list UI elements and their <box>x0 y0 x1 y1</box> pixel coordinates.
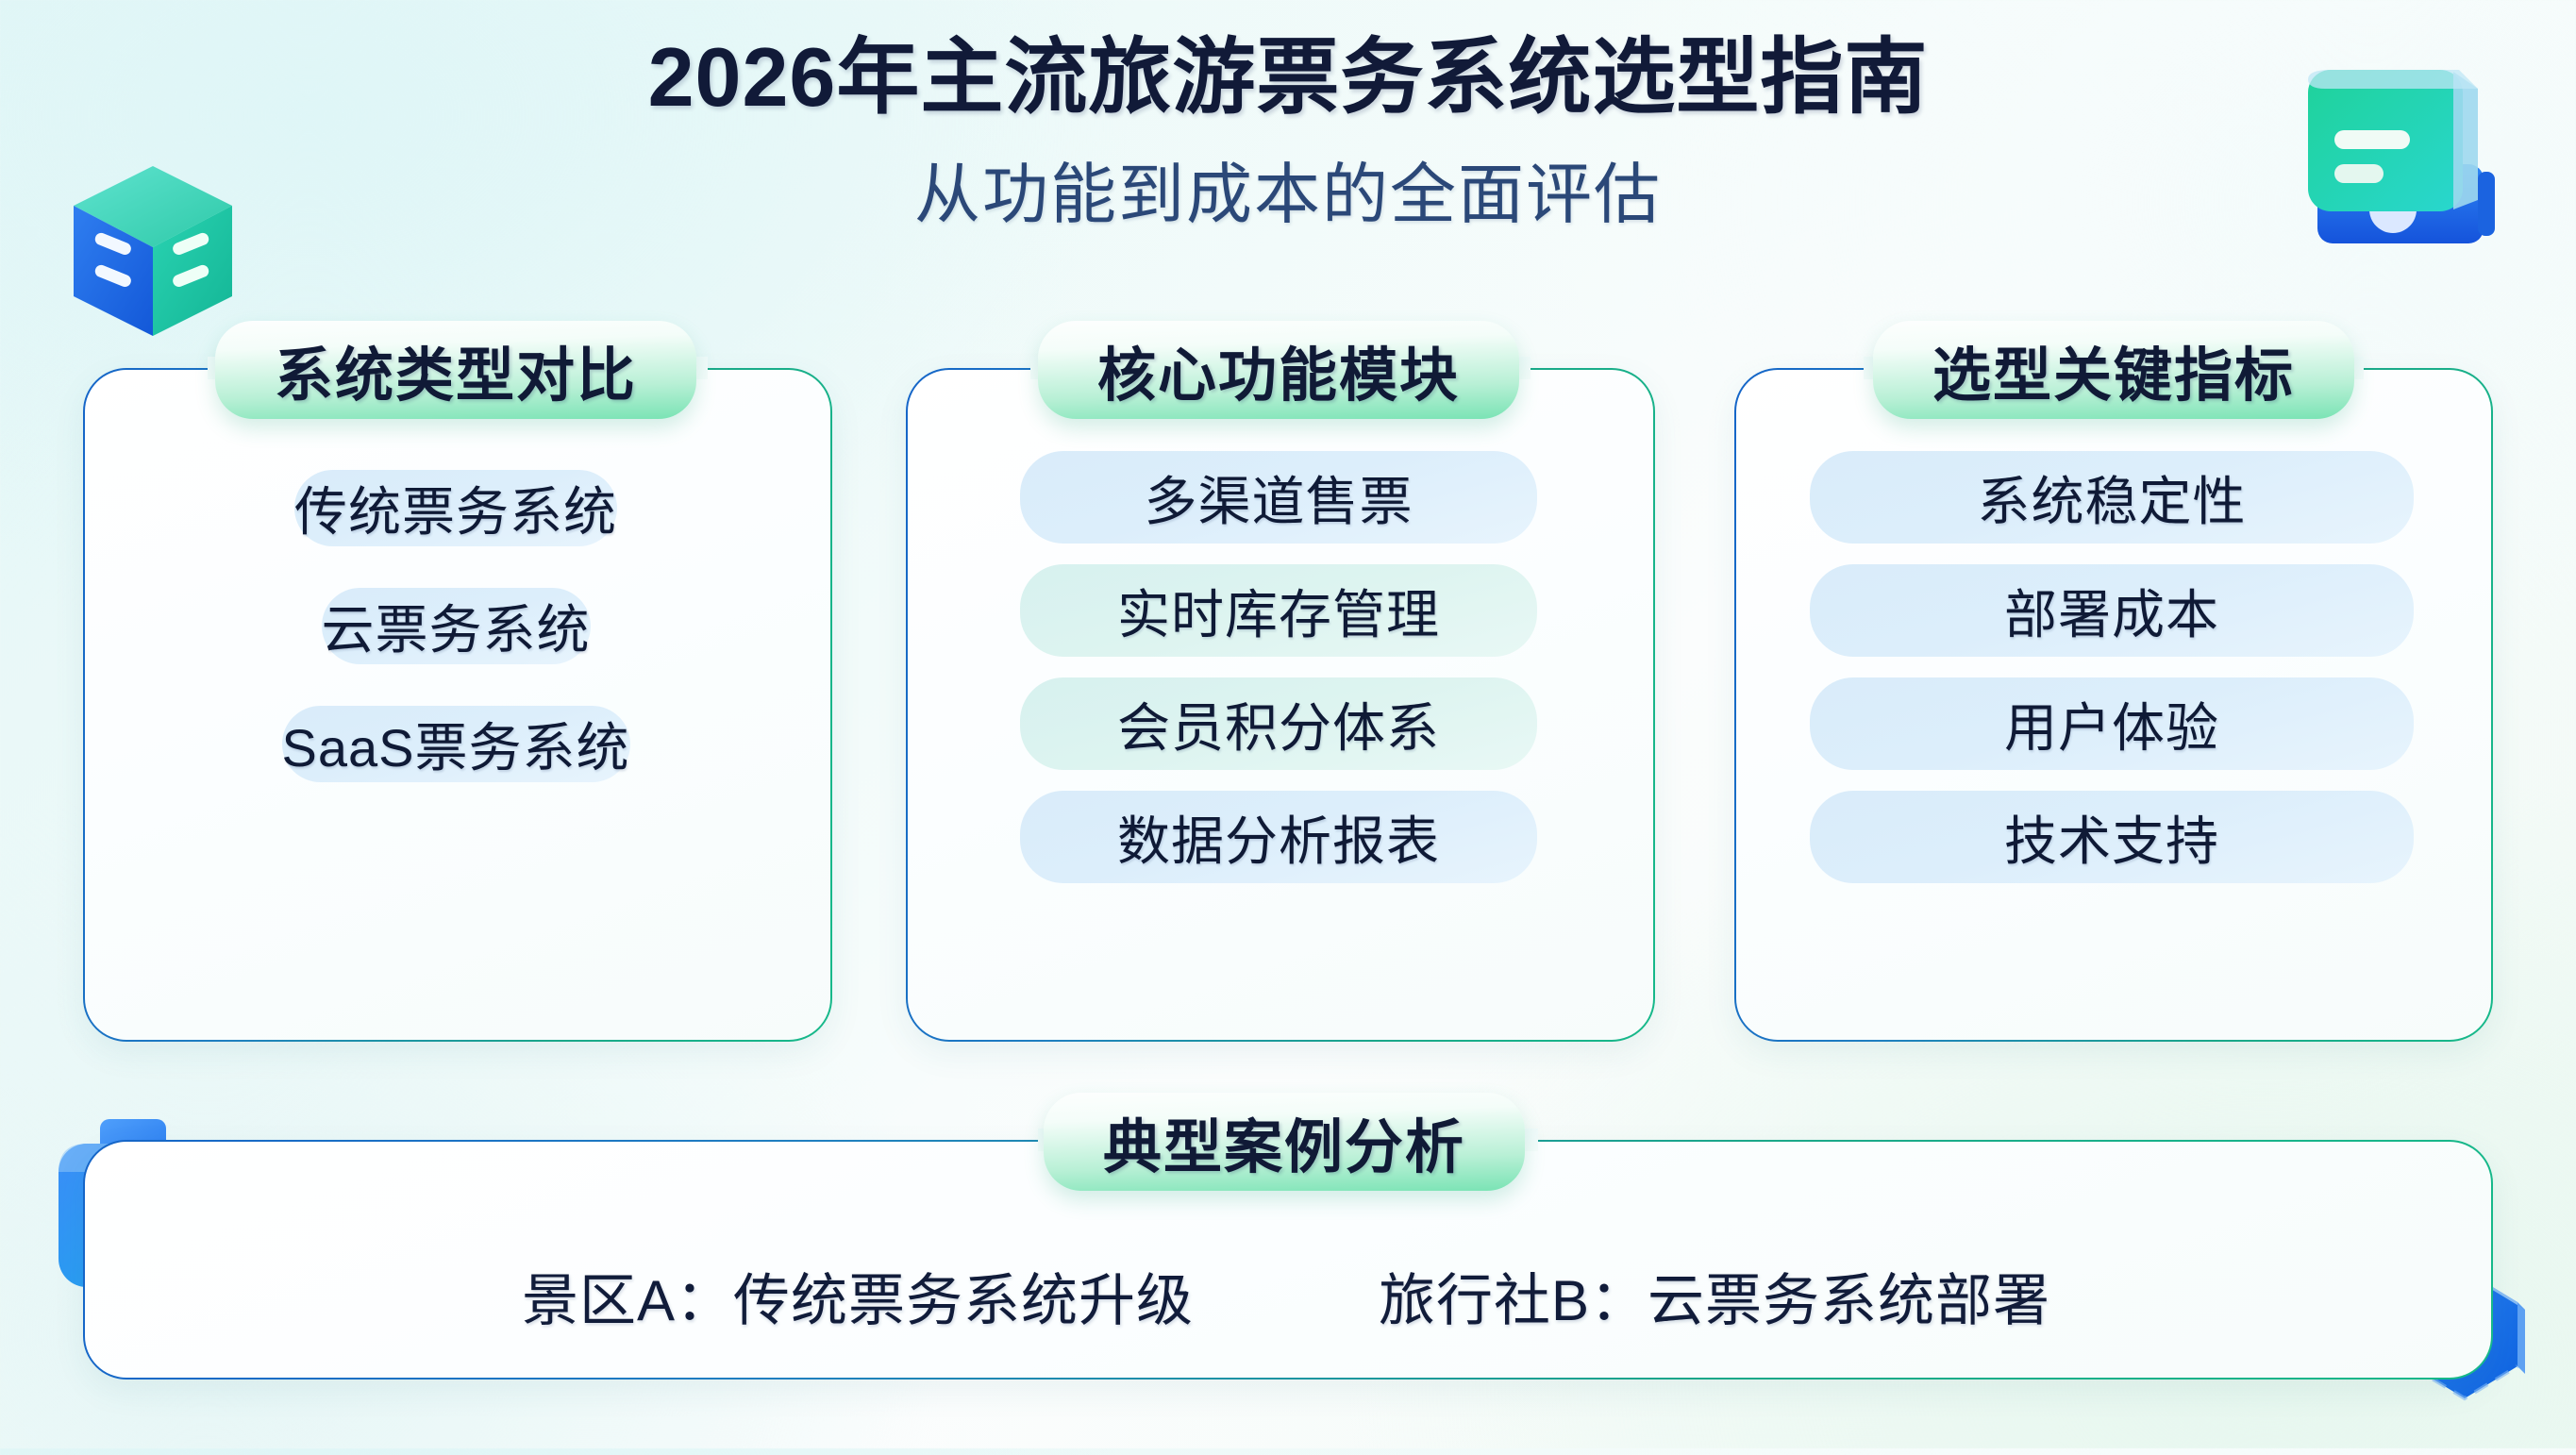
card-heading-core-modules: 核心功能模块 <box>1038 321 1519 419</box>
cube-3d-icon <box>59 159 247 347</box>
card-heading-case-studies: 典型案例分析 <box>1044 1093 1525 1191</box>
list-item[interactable]: 多渠道售票 <box>1020 451 1537 544</box>
list-item[interactable]: 系统稳定性 <box>1810 451 2414 544</box>
document-card-3d-icon <box>2293 21 2529 257</box>
case-study-list: 景区A：传统票务系统升级 旅行社B：云票务系统部署 <box>83 1244 2489 1347</box>
core-module-item-list: 多渠道售票 实时库存管理 会员积分体系 数据分析报表 <box>906 451 1651 883</box>
list-item[interactable]: 部署成本 <box>1810 564 2414 657</box>
key-metric-item-list: 系统稳定性 部署成本 用户体验 技术支持 <box>1734 451 2489 883</box>
card-heading-key-metrics: 选型关键指标 <box>1873 321 2354 419</box>
list-item[interactable]: 数据分析报表 <box>1020 791 1537 883</box>
card-heading-system-type: 系统类型对比 <box>215 321 696 419</box>
list-item[interactable]: 技术支持 <box>1810 791 2414 883</box>
case-item-b[interactable]: 旅行社B：云票务系统部署 <box>1379 1255 2050 1337</box>
list-item[interactable]: 云票务系统 <box>322 588 591 664</box>
list-item[interactable]: 传统票务系统 <box>294 470 617 546</box>
page-title: 2026年主流旅游票务系统选型指南 <box>0 32 2576 122</box>
system-type-item-list: 传统票务系统 云票务系统 SaaS票务系统 <box>83 470 828 782</box>
list-item[interactable]: 实时库存管理 <box>1020 564 1537 657</box>
list-item[interactable]: 会员积分体系 <box>1020 677 1537 770</box>
page-subtitle: 从功能到成本的全面评估 <box>0 159 2576 231</box>
case-item-a[interactable]: 景区A：传统票务系统升级 <box>522 1255 1194 1337</box>
infographic-canvas: 2026年主流旅游票务系统选型指南 从功能到成本的全面评估 <box>0 0 2576 1448</box>
list-item[interactable]: SaaS票务系统 <box>282 706 630 782</box>
list-item[interactable]: 用户体验 <box>1810 677 2414 770</box>
